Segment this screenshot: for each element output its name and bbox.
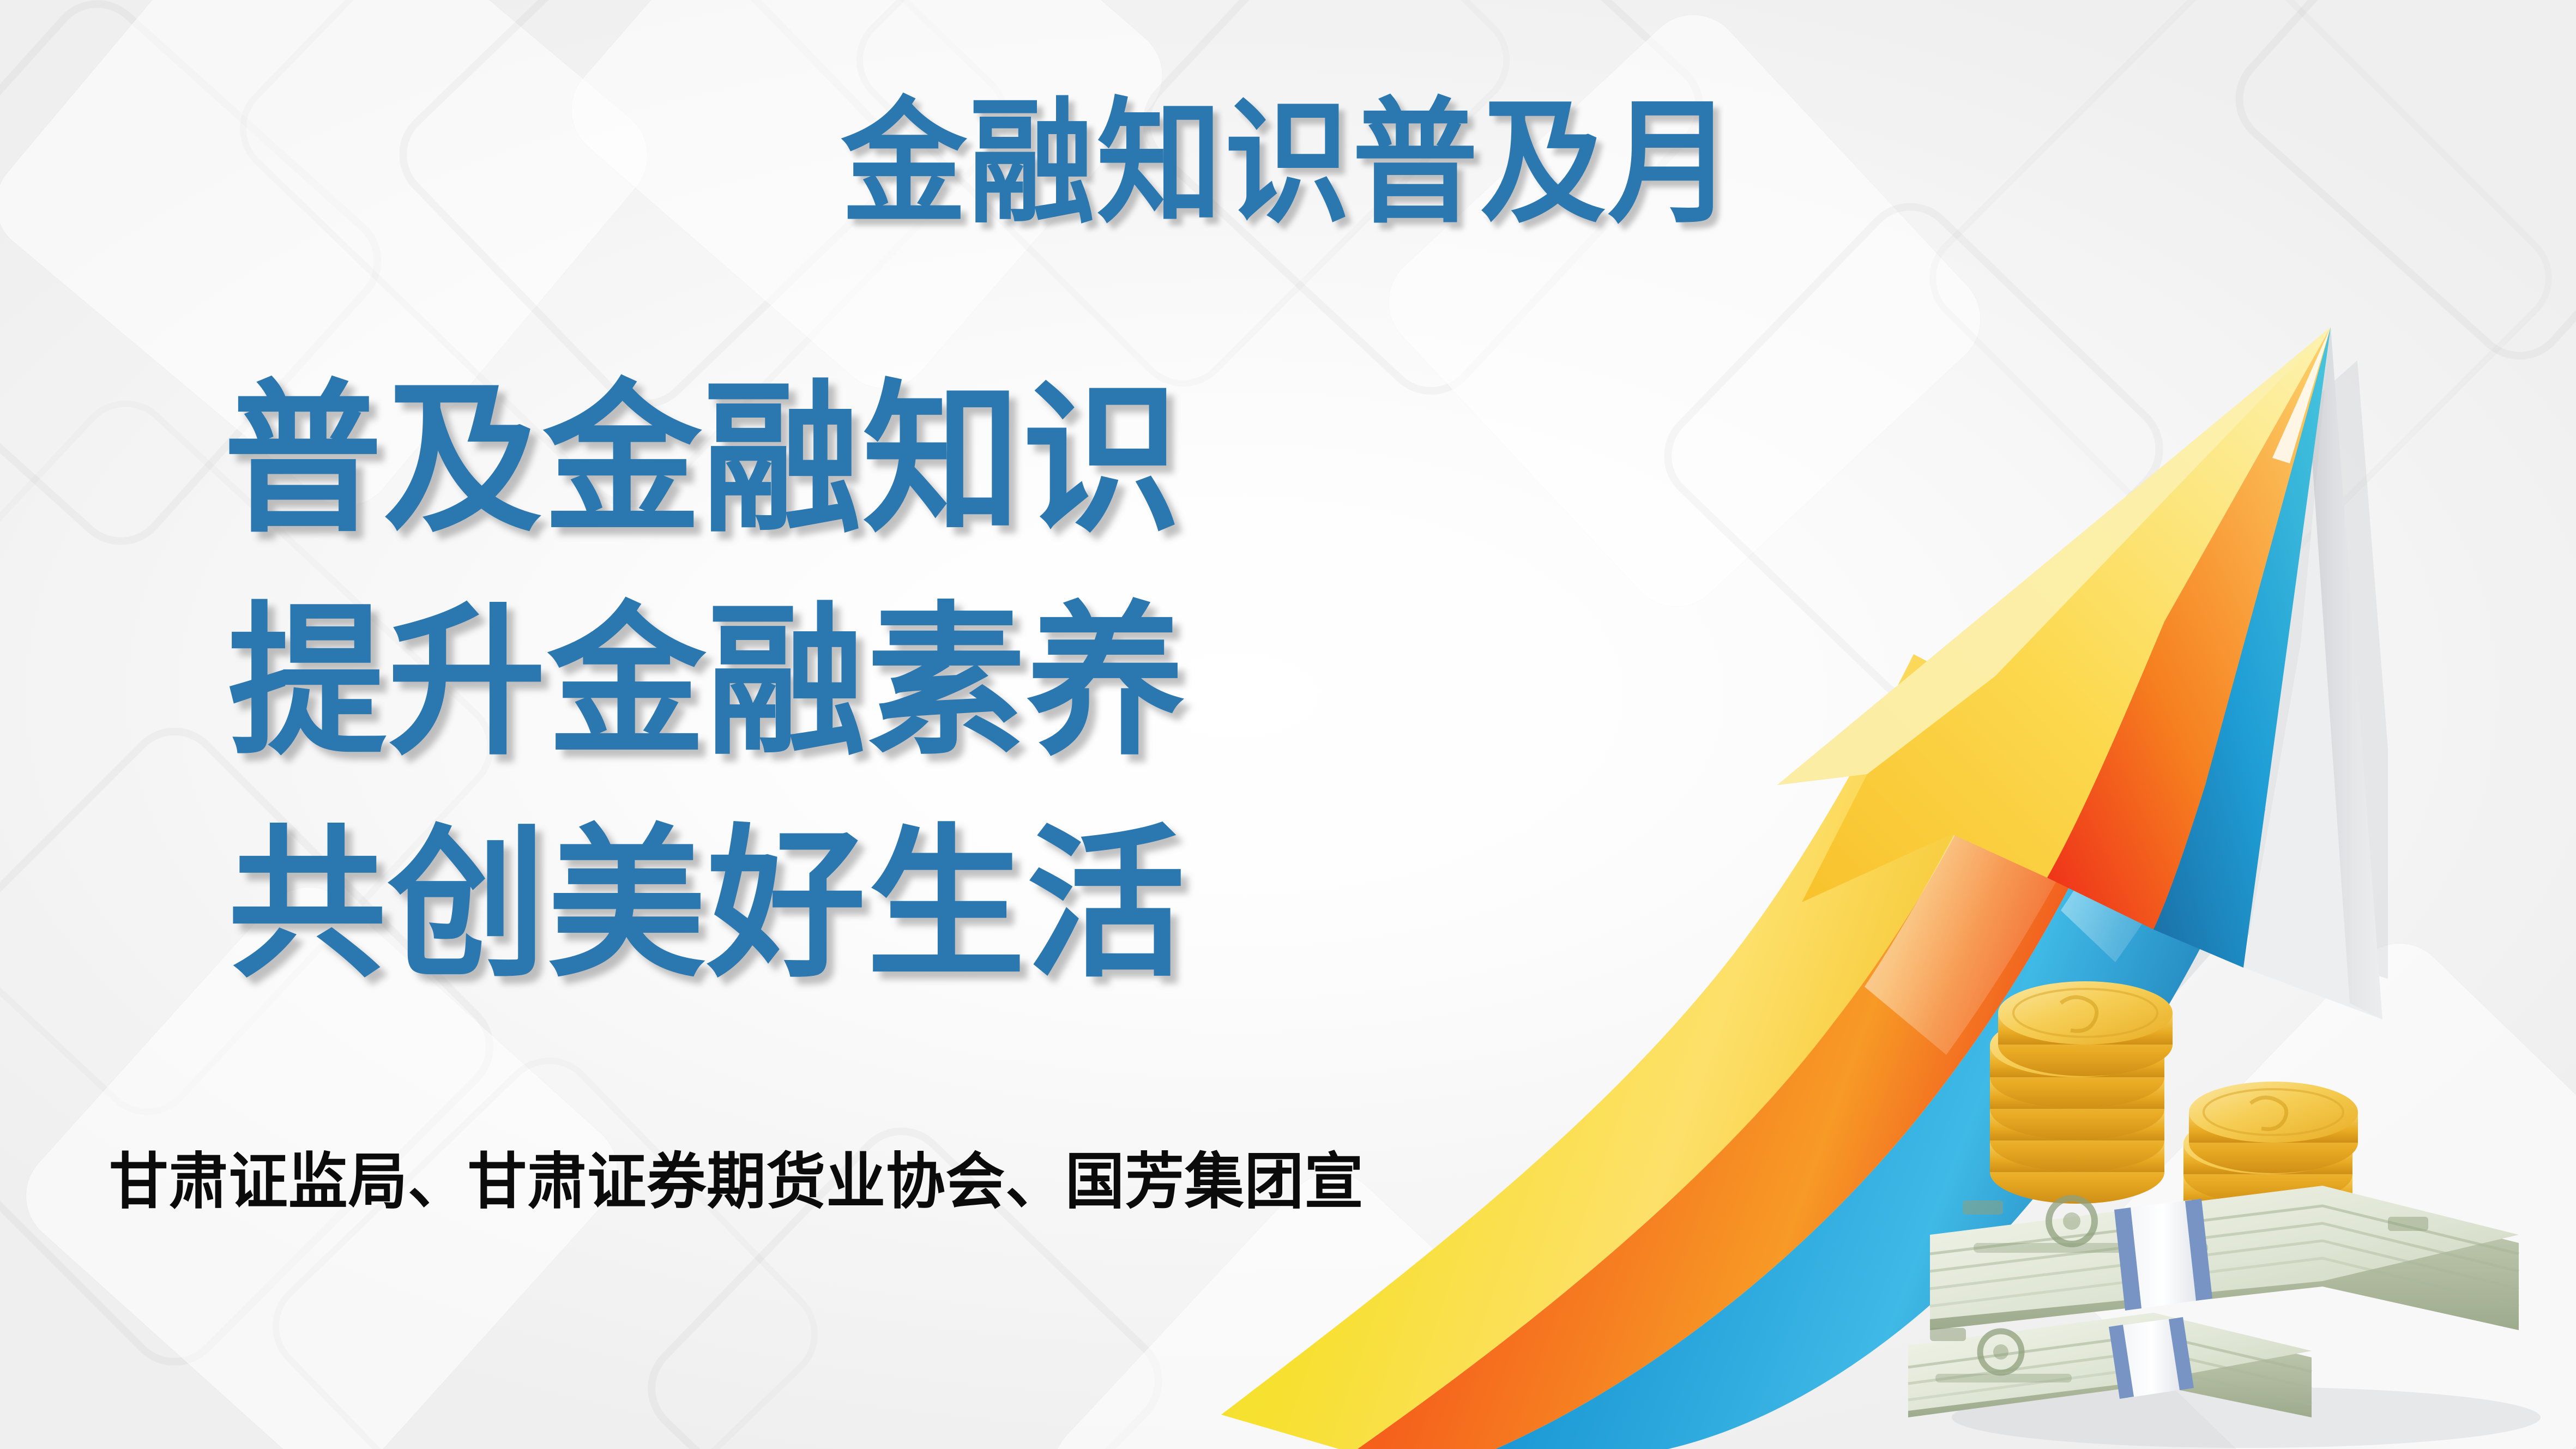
coin-stack-front [2183, 1082, 2358, 1235]
coin-stack-back [1990, 981, 2173, 1204]
arrow-head-backplane [2243, 327, 2382, 1019]
arrow-head-blue-face [2153, 327, 2331, 968]
arrow-tail-orange-stripe [1352, 709, 2132, 1449]
arrow-head-shadow [1850, 360, 2388, 1126]
arrow-head-pale-wing [1777, 327, 2331, 785]
arrow-head-yellow-face [1777, 327, 2331, 902]
headline-line-2: 提升金融素养 [228, 571, 1387, 794]
headline-line-3: 共创美好生活 [228, 794, 1387, 1016]
title-container: 金融知识普及月 [0, 93, 2576, 234]
arrow-tail-blue-stripe [1483, 755, 2265, 1449]
rounded-square-watermark [252, 1037, 838, 1449]
arrow-head-crease-highlight [2272, 327, 2331, 463]
rounded-square-watermark [2058, 923, 2576, 1449]
banknote-bundle-front [1908, 1313, 2312, 1417]
arrow-fold-highlight [1865, 687, 2132, 1055]
arrow-fold-highlight [2061, 643, 2276, 962]
page-title: 金融知识普及月 [841, 93, 1735, 234]
credit-line: 甘肃证监局、甘肃证券期货业协会、国芳集团宣 [109, 1151, 1364, 1212]
money-illustration [1897, 938, 2576, 1449]
money-ground-shadow [1952, 1387, 2541, 1448]
rounded-square-watermark [1909, 0, 2572, 609]
arrow-head-orange-face [2047, 327, 2331, 929]
arrow-head-edge-shadow [2310, 327, 2382, 1019]
rounded-square-watermark [1644, 183, 2183, 722]
poster-canvas: 金融知识普及月 普及金融知识 提升金融素养 共创美好生活 甘肃证监局、甘肃证券期… [0, 0, 2576, 1449]
headline-line-1: 普及金融知识 [224, 349, 1387, 571]
headline-block: 普及金融知识 提升金融素养 共创美好生活 [224, 349, 1423, 1016]
banknote-bundle-back [1930, 1186, 2519, 1330]
